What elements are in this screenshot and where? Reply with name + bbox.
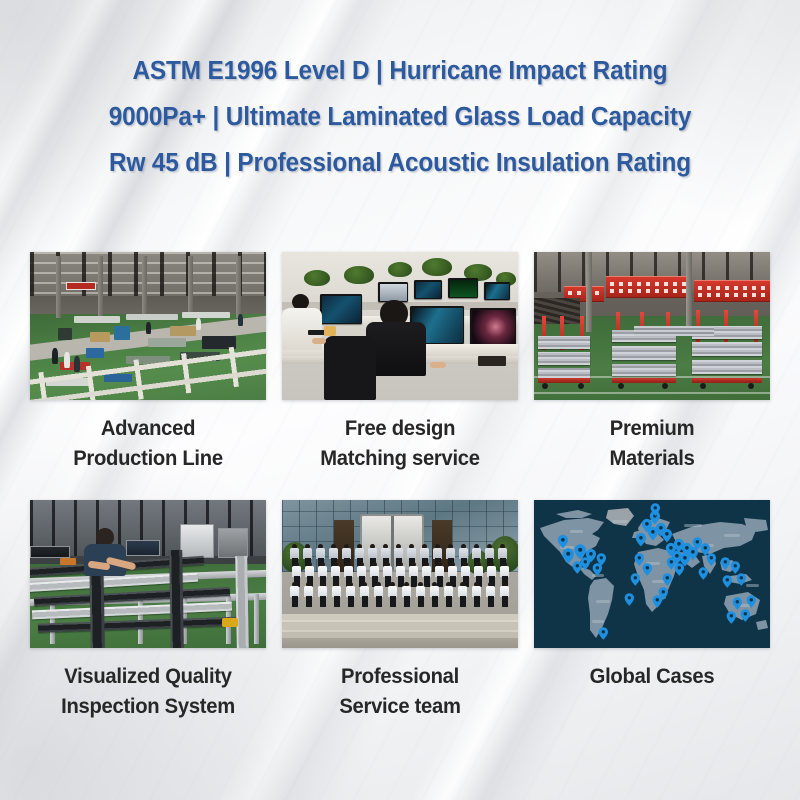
global-cases-map <box>534 500 770 648</box>
feature-cell-advanced-production-line: Advanced Production Line <box>22 252 274 473</box>
headline-line-3: Rw 45 dB | Professional Acoustic Insulat… <box>18 140 782 186</box>
feature-caption: Free design Matching service <box>282 413 519 473</box>
grid-row-spacer <box>22 473 274 500</box>
thumb-wrap <box>526 500 778 648</box>
design-office-photo <box>282 252 518 400</box>
feature-cell-free-design-matching-service: Free design Matching service <box>274 252 526 473</box>
feature-cell-professional-service-team: Professional Service team <box>274 500 526 721</box>
feature-caption: Professional Service team <box>282 661 519 721</box>
feature-caption: Global Cases <box>534 661 771 691</box>
thumb-wrap <box>22 252 274 400</box>
quality-inspection-photo <box>30 500 266 648</box>
thumb-wrap <box>274 500 526 648</box>
grid-row-spacer <box>526 473 778 500</box>
feature-caption: Visualized Quality Inspection System <box>30 661 267 721</box>
feature-cell-visualized-quality-inspection-system: Visualized Quality Inspection System <box>22 500 274 721</box>
world-map-svg <box>534 500 770 648</box>
feature-cell-global-cases: Global Cases <box>526 500 778 721</box>
headline-block: ASTM E1996 Level D | Hurricane Impact Ra… <box>0 48 800 186</box>
thumb-wrap <box>274 252 526 400</box>
thumb-wrap <box>22 500 274 648</box>
feature-caption: Premium Materials <box>534 413 771 473</box>
headline-line-2: 9000Pa+ | Ultimate Laminated Glass Load … <box>18 94 782 140</box>
thumb-wrap <box>526 252 778 400</box>
feature-grid: Advanced Production Line <box>22 252 778 721</box>
feature-caption: Advanced Production Line <box>30 413 267 473</box>
factory-production-line-photo <box>30 252 266 400</box>
product-feature-banner: ASTM E1996 Level D | Hurricane Impact Ra… <box>0 0 800 800</box>
grid-row-spacer <box>274 473 526 500</box>
company-team-photo <box>282 500 518 648</box>
feature-cell-premium-materials: Premium Materials <box>526 252 778 473</box>
aluminium-profile-warehouse-photo <box>534 252 770 400</box>
headline-line-1: ASTM E1996 Level D | Hurricane Impact Ra… <box>18 48 782 94</box>
